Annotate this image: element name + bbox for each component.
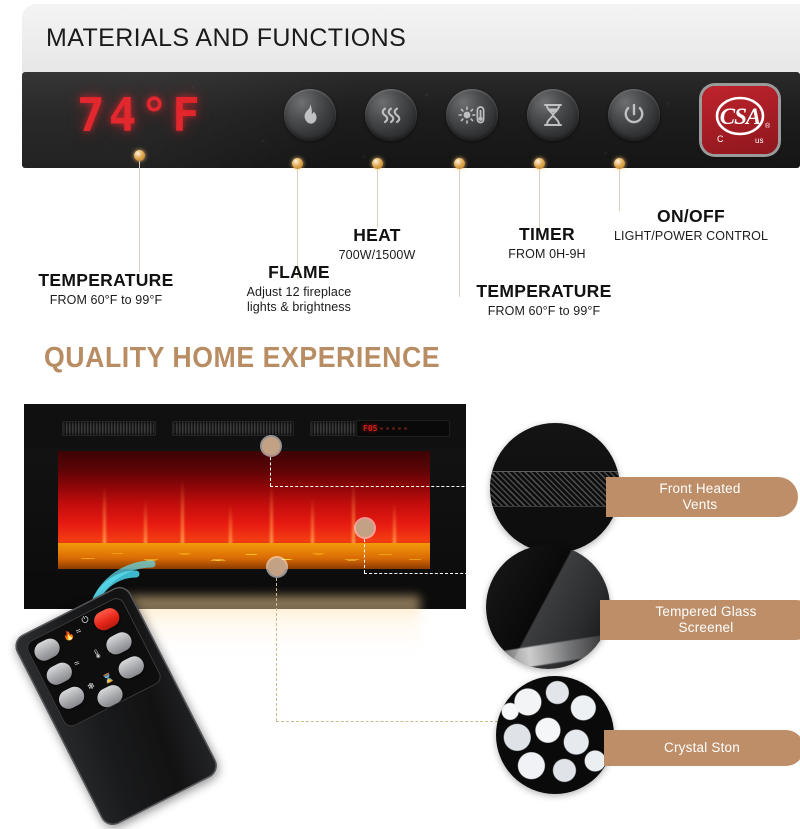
remote-power-button[interactable] — [91, 605, 123, 634]
callout-subtitle: FROM 60°F to 99°F — [16, 293, 196, 308]
callout-timer: TIMER FROM 0H-9H — [488, 224, 606, 262]
svg-text:us: us — [755, 136, 763, 145]
fireplace-flame-screen — [58, 451, 430, 569]
hourglass-icon — [541, 102, 565, 128]
vent-grille-left — [62, 421, 156, 436]
csa-logo-icon: CSA ® C us — [705, 90, 775, 150]
display-dot — [398, 427, 401, 430]
csa-certification-badge: CSA ® C us — [702, 86, 778, 154]
detail-circle-tempered-glass — [486, 545, 610, 669]
callout-subtitle: LIGHT/POWER CONTROL — [608, 229, 774, 244]
svg-text:CSA: CSA — [720, 104, 761, 129]
pin-line-temperature-left — [139, 161, 140, 272]
vent-grille-right — [310, 421, 360, 436]
callout-title: TEMPERATURE — [16, 270, 196, 291]
remote-hourglass-icon: ⌛ — [102, 672, 116, 685]
power-icon — [621, 102, 647, 128]
pin-onoff — [614, 158, 625, 169]
callout-temperature-right: TEMPERATURE FROM 60°F to 99°F — [452, 281, 636, 319]
pin-line-heat — [377, 169, 378, 227]
marker-front-vents — [262, 437, 280, 455]
remote-heat-icon: ≈ — [73, 658, 81, 668]
section-title-quality-home: QUALITY HOME EXPERIENCE — [44, 342, 440, 375]
svg-text:®: ® — [765, 122, 771, 130]
remote-button[interactable] — [56, 683, 88, 712]
feature-pill-front-vents: Front Heated Vents — [606, 477, 798, 517]
svg-text:C: C — [717, 134, 724, 144]
detail-circle-front-vents — [490, 423, 620, 553]
pin-temperature-right — [454, 158, 465, 169]
display-dot — [380, 427, 383, 430]
remote-waves-icon: ≈ — [74, 626, 82, 636]
callout-title: HEAT — [312, 225, 442, 246]
callout-onoff: ON/OFF LIGHT/POWER CONTROL — [608, 206, 774, 244]
marker-tempered-glass — [356, 519, 374, 537]
remote-flame-icon: 🔥 — [62, 630, 76, 643]
glass-sheen — [486, 632, 610, 669]
callout-subtitle: FROM 0H-9H — [488, 247, 606, 262]
display-dot — [392, 427, 395, 430]
remote-snowflake-icon: ❄ — [86, 681, 97, 692]
fireplace-led-display: F05 — [356, 420, 450, 437]
display-dot — [404, 427, 407, 430]
vent-grille-center — [172, 421, 294, 436]
pin-line-onoff — [619, 169, 620, 211]
remote-button[interactable] — [43, 659, 75, 688]
temperature-button[interactable] — [446, 89, 498, 141]
display-dot — [386, 427, 389, 430]
remote-button[interactable] — [115, 653, 147, 682]
pin-temperature-left — [134, 150, 145, 161]
marker-crystal-stone — [268, 558, 286, 576]
pin-flame — [292, 158, 303, 169]
infographic-root: MATERIALS AND FUNCTIONS 74°F — [0, 0, 800, 800]
callout-temperature-left: TEMPERATURE FROM 60°F to 99°F — [16, 270, 196, 308]
flame-button[interactable] — [284, 89, 336, 141]
sun-thermometer-icon — [457, 102, 487, 128]
vent-mesh-texture — [490, 471, 620, 507]
remote-button[interactable] — [31, 635, 63, 664]
remote-thermometer-icon: 🌡 — [90, 648, 104, 661]
feature-pill-crystal-stone: Crystal Ston — [604, 730, 800, 766]
callout-flame: FLAME Adjust 12 fireplace lights & brigh… — [216, 262, 382, 316]
power-button[interactable] — [608, 89, 660, 141]
callout-subtitle: FROM 60°F to 99°F — [452, 304, 636, 319]
callout-subtitle: Adjust 12 fireplace lights & brightness — [216, 285, 382, 316]
fireplace-display-value: F05 — [363, 424, 377, 433]
heat-waves-icon — [377, 101, 405, 129]
pin-timer — [534, 158, 545, 169]
page-title: MATERIALS AND FUNCTIONS — [46, 24, 406, 53]
callout-heat: HEAT 700W/1500W — [312, 225, 442, 263]
timer-button[interactable] — [527, 89, 579, 141]
callout-title: TIMER — [488, 224, 606, 245]
remote-button[interactable] — [103, 629, 135, 658]
callout-title: ON/OFF — [608, 206, 774, 227]
heat-button[interactable] — [365, 89, 417, 141]
detail-circle-crystal-stone — [496, 676, 614, 794]
pin-line-temperature-right — [459, 169, 460, 297]
remote-power-symbol-icon: ⏻ — [80, 614, 90, 625]
callout-title: TEMPERATURE — [452, 281, 636, 302]
callout-subtitle: 700W/1500W — [312, 248, 442, 263]
callout-title: FLAME — [216, 262, 382, 283]
flame-icon — [297, 102, 323, 128]
pin-heat — [372, 158, 383, 169]
feature-pill-tempered-glass: Tempered Glass Screenel — [600, 600, 800, 640]
led-temperature-display: 74°F — [77, 92, 204, 138]
